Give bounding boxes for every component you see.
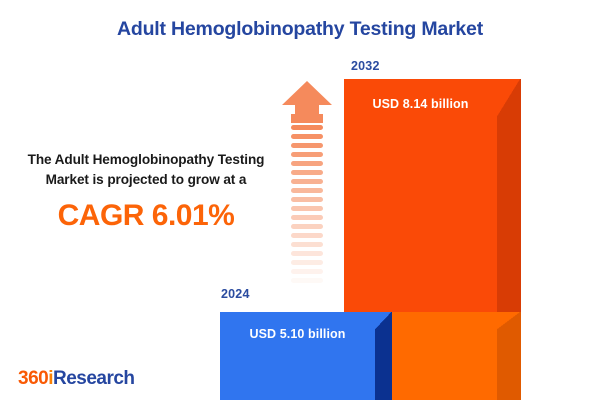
brand-logo-number: 360 [18,368,48,389]
up-arrow-stripe [291,269,323,274]
bar-2032-overlap-side [497,330,521,400]
bar-2024-top-bevel [375,312,392,330]
up-arrow-stripe [291,170,323,175]
up-arrow-stripe [291,242,323,247]
up-arrow-stripe [291,161,323,166]
up-arrow-neck [291,114,323,123]
cagr-callout: The Adult Hemoglobinopathy Testing Marke… [20,150,272,233]
up-arrow-stripe [291,179,323,184]
up-arrow-stripe [291,278,323,283]
bar-2024-front-face [220,312,375,400]
bar-2024-side-face [375,330,392,400]
up-arrow-head-icon [282,81,332,117]
up-arrow-stripe [291,188,323,193]
up-arrow-stripe [291,224,323,229]
up-arrow-stripe [291,134,323,139]
up-arrow-stripe [291,143,323,148]
up-arrow-stripe [291,197,323,202]
up-arrow-stripe [291,152,323,157]
up-arrow-stripe [291,260,323,265]
up-arrow-stripes [291,125,323,293]
up-arrow-stripe [291,206,323,211]
brand-logo-word: Research [53,368,135,389]
up-arrow-stripe [291,287,323,292]
bar-value-2024: USD 5.10 billion [220,327,375,341]
up-arrow-stripe [291,215,323,220]
page-title: Adult Hemoglobinopathy Testing Market [0,18,600,41]
up-arrow-stripe [291,125,323,130]
cagr-description: The Adult Hemoglobinopathy Testing Marke… [20,150,272,190]
up-arrow-stripe [291,251,323,256]
up-arrow-stripe [291,233,323,238]
cagr-value: CAGR 6.01% [20,199,272,233]
bar-2032-top-bevel [497,79,521,118]
brand-logo: 360iResearch [18,368,135,390]
up-arrow-icon [282,81,332,293]
year-label-2024: 2024 [221,287,250,301]
year-label-2032: 2032 [351,59,380,73]
bar-2032-overlap-bevel [497,312,521,330]
market-size-infographic: Adult Hemoglobinopathy Testing Market 20… [0,0,600,400]
bar-value-2032: USD 8.14 billion [344,97,497,111]
bar-2024 [220,312,392,400]
